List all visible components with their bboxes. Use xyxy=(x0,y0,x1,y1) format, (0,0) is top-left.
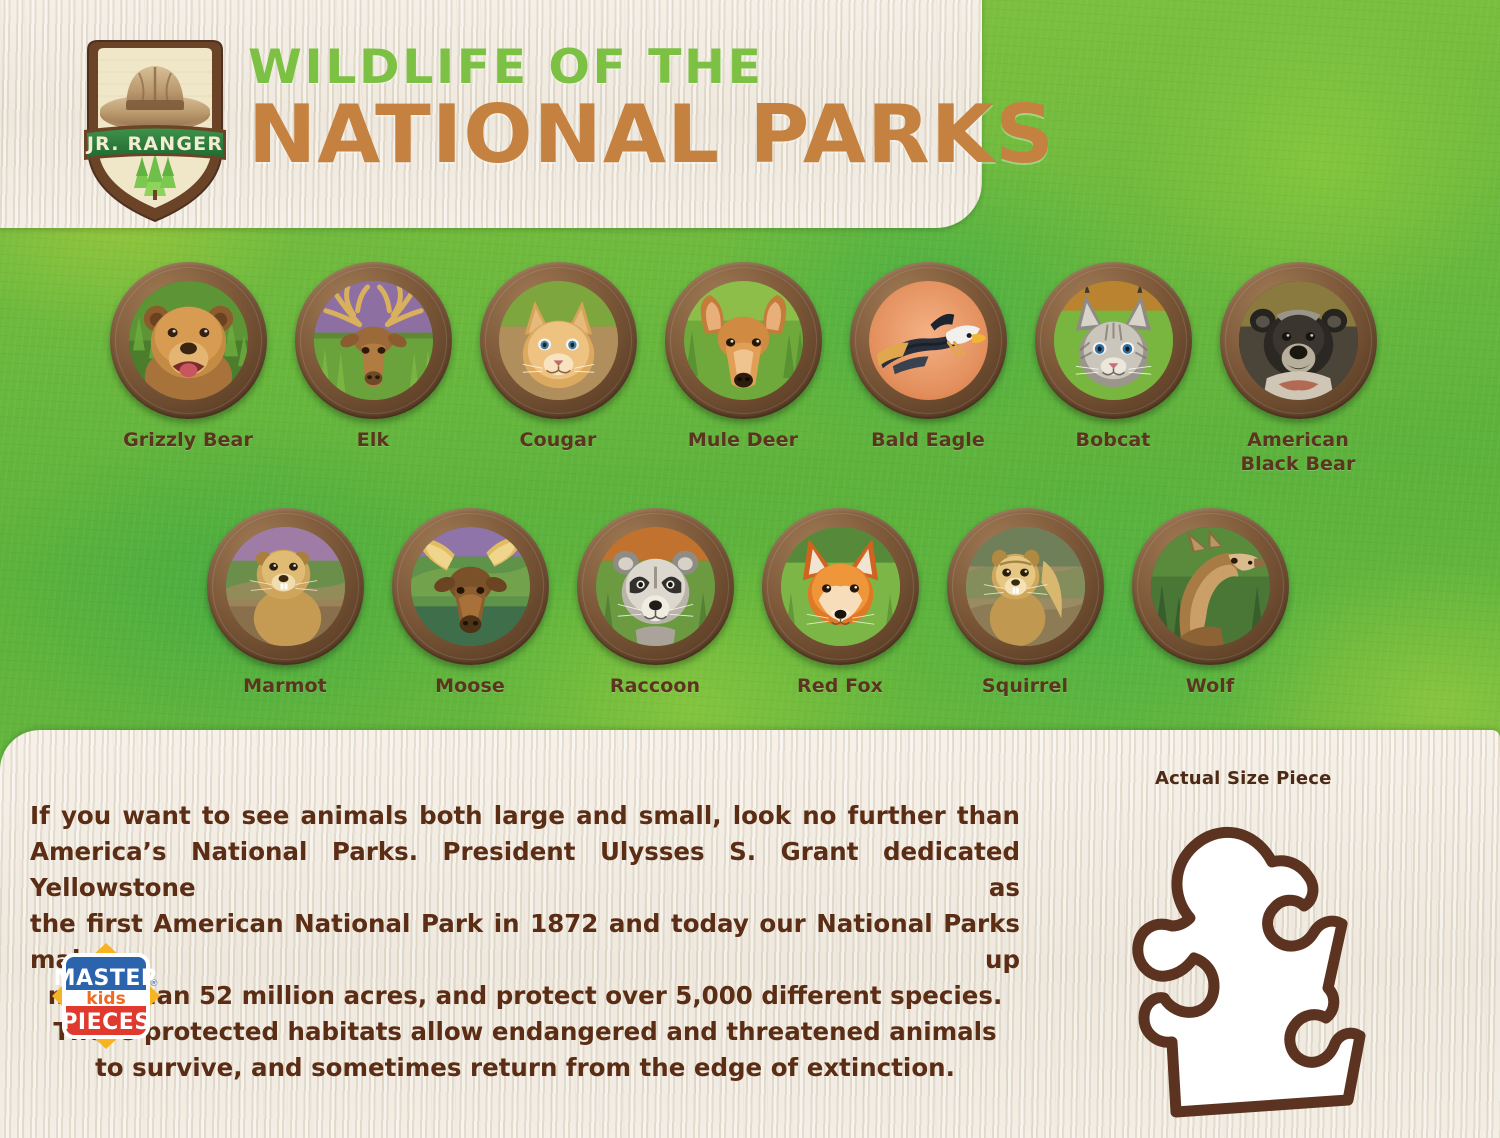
marmot-photo xyxy=(226,527,345,646)
animal-ring xyxy=(1035,262,1192,419)
animal-label: Elk xyxy=(357,428,389,452)
bald-eagle-photo xyxy=(869,281,988,400)
mule-deer-photo xyxy=(684,281,803,400)
animal-cell-moose[interactable]: Moose xyxy=(390,508,550,698)
animal-label: Cougar xyxy=(520,428,597,452)
grizzly-bear-photo xyxy=(129,281,248,400)
american-black-bear-photo xyxy=(1239,281,1358,400)
animal-ring xyxy=(480,262,637,419)
animal-label: Bobcat xyxy=(1076,428,1151,452)
animal-row-2: Marmot xyxy=(205,508,1290,698)
cougar-photo xyxy=(499,281,618,400)
poster-canvas: JR. RANGER WILDLIFE OF THE NATIONAL PARK… xyxy=(0,0,1500,1138)
animal-cell-elk[interactable]: Elk xyxy=(293,262,453,452)
animal-cell-bald-eagle[interactable]: Bald Eagle xyxy=(848,262,1008,452)
animal-label: Bald Eagle xyxy=(871,428,985,452)
page-title: NATIONAL PARKS xyxy=(248,94,1055,176)
description-line-6: to survive, and sometimes return from th… xyxy=(30,1050,1020,1086)
animal-label: Grizzly Bear xyxy=(123,428,253,452)
moose-photo xyxy=(411,527,530,646)
animal-ring xyxy=(850,262,1007,419)
squirrel-photo xyxy=(966,527,1085,646)
animal-cell-wolf[interactable]: Wolf xyxy=(1130,508,1290,698)
animal-label: Squirrel xyxy=(982,674,1068,698)
description-line-3: the first American National Park in 1872… xyxy=(30,906,1020,978)
actual-size-piece-label: Actual Size Piece xyxy=(1155,768,1332,789)
logo-word-top: MASTER xyxy=(54,966,159,991)
animal-ring xyxy=(577,508,734,665)
elk-photo xyxy=(314,281,433,400)
description-line-2: America’s National Parks. President Ulys… xyxy=(30,834,1020,906)
animal-cell-grizzly-bear[interactable]: Grizzly Bear xyxy=(108,262,268,452)
wolf-photo xyxy=(1151,527,1270,646)
animal-label: AmericanBlack Bear xyxy=(1241,428,1356,477)
animal-cell-squirrel[interactable]: Squirrel xyxy=(945,508,1105,698)
animal-ring xyxy=(207,508,364,665)
description-line-5: These protected habitats allow endangere… xyxy=(30,1014,1020,1050)
animal-ring xyxy=(295,262,452,419)
animal-ring xyxy=(762,508,919,665)
description-line-4: more than 52 million acres, and protect … xyxy=(30,978,1020,1014)
bobcat-photo xyxy=(1054,281,1173,400)
animal-ring xyxy=(392,508,549,665)
animal-grid: Grizzly Bear xyxy=(0,250,1500,730)
animal-label: Marmot xyxy=(243,674,327,698)
jr-ranger-badge: JR. RANGER xyxy=(82,40,228,222)
animal-ring xyxy=(1132,508,1289,665)
logo-word-bottom: PIECES xyxy=(61,1010,150,1035)
page-title-subline: WILDLIFE OF THE xyxy=(248,44,1071,91)
raccoon-photo xyxy=(596,527,715,646)
animal-label: Mule Deer xyxy=(688,428,798,452)
jr-ranger-ribbon-text: JR. RANGER xyxy=(85,133,223,155)
animal-label: Raccoon xyxy=(610,674,700,698)
description-text: If you want to see animals both large an… xyxy=(30,798,1020,1086)
animal-label: Moose xyxy=(435,674,505,698)
animal-cell-marmot[interactable]: Marmot xyxy=(205,508,365,698)
puzzle-piece-icon xyxy=(1110,800,1410,1135)
logo-word-mid: kids xyxy=(86,989,125,1009)
animal-ring xyxy=(947,508,1104,665)
animal-cell-american-black-bear[interactable]: AmericanBlack Bear xyxy=(1218,262,1378,477)
animal-row-1: Grizzly Bear xyxy=(108,262,1378,477)
red-fox-photo xyxy=(781,527,900,646)
description-line-1: If you want to see animals both large an… xyxy=(30,798,1020,834)
animal-cell-red-fox[interactable]: Red Fox xyxy=(760,508,920,698)
masterpieces-kids-logo[interactable]: MASTER kids PIECES ® xyxy=(48,942,164,1050)
animal-cell-cougar[interactable]: Cougar xyxy=(478,262,638,452)
animal-cell-mule-deer[interactable]: Mule Deer xyxy=(663,262,823,452)
title-block: WILDLIFE OF THE NATIONAL PARKS xyxy=(248,44,1039,176)
animal-cell-bobcat[interactable]: Bobcat xyxy=(1033,262,1193,452)
animal-label: Red Fox xyxy=(797,674,883,698)
animal-cell-raccoon[interactable]: Raccoon xyxy=(575,508,735,698)
animal-label: Wolf xyxy=(1186,674,1235,698)
animal-ring xyxy=(110,262,267,419)
animal-ring xyxy=(1220,262,1377,419)
registered-mark: ® xyxy=(150,979,159,989)
animal-ring xyxy=(665,262,822,419)
